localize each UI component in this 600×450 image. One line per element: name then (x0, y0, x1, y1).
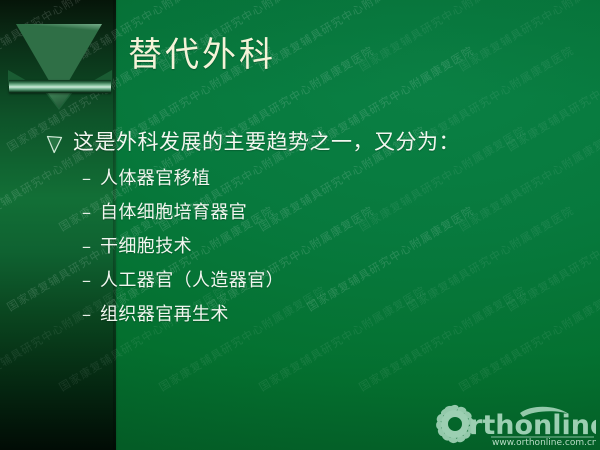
page-title: 替代外科 (128, 33, 276, 77)
bullet-level2-dash: – (82, 166, 91, 192)
orthonline-wordmark: rthonline (469, 410, 596, 441)
bullet-level2-dash: – (82, 268, 91, 294)
bullet-level2-list: –人体器官移植–自体细胞培育器官–干细胞技术–人工器官（人造器官）–组织器官再生… (46, 166, 586, 328)
bullet-level2-text: 人体器官移植 (100, 166, 210, 192)
bullet-level2-item: –组织器官再生术 (82, 302, 586, 328)
bullet-level2-dash: – (82, 200, 91, 226)
bullet-level2-text: 自体细胞培育器官 (100, 200, 247, 226)
slide-canvas: 国家康复辅具研究中心附属康复医院国家康复辅具研究中心附属康复医院国家康复辅具研究… (0, 0, 600, 450)
bullet-level2-item: –人体器官移植 (82, 166, 586, 192)
bullet-level1-text: 这是外科发展的主要趋势之一，又分为： (73, 128, 460, 156)
emblem-horizontal-bar (9, 80, 111, 93)
orthonline-url: www.orthonline.com.cn (492, 438, 596, 446)
bullet-level2-item: –干细胞技术 (82, 234, 586, 260)
bullet-level2-dash: – (82, 234, 91, 260)
inverted-triangle-emblem-icon (8, 22, 112, 106)
slide-body: 这是外科发展的主要趋势之一，又分为： –人体器官移植–自体细胞培育器官–干细胞技… (46, 128, 586, 336)
bullet-level2-item: –人工器官（人造器官） (82, 268, 586, 294)
bullet-level1: 这是外科发展的主要趋势之一，又分为： (46, 128, 586, 157)
bullet-level2-text: 干细胞技术 (100, 234, 192, 260)
bullet-level2-text: 组织器官再生术 (100, 302, 229, 328)
bullet-level2-dash: – (82, 302, 91, 328)
bullet-level2-text: 人工器官（人造器官） (100, 268, 284, 294)
chevron-check-bullet-icon (46, 133, 63, 157)
bullet-level2-item: –自体细胞培育器官 (82, 200, 586, 226)
orthonline-logo: rthonline www.orthonline.com.cn (428, 400, 596, 446)
